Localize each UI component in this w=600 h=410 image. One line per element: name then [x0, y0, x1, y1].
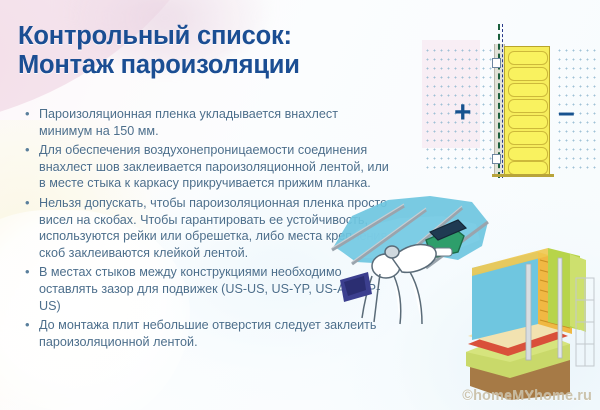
bullet-dot-icon: •	[22, 317, 39, 334]
page-title: Контрольный список: Монтаж пароизоляции	[18, 22, 448, 80]
layered-wall-3d-illustration	[452, 248, 600, 403]
wall-cross-section-diagram: + –	[418, 6, 600, 192]
title-line-2: Монтаж пароизоляции	[18, 51, 448, 80]
diagram-membrane-line	[502, 24, 503, 178]
bullet-dot-icon: •	[22, 106, 39, 123]
diagram-insulation-layer	[504, 46, 550, 176]
slide-canvas: Контрольный список: Монтаж пароизоляции …	[0, 0, 600, 410]
bullet-dot-icon: •	[22, 195, 39, 212]
diagram-base-line	[492, 174, 554, 177]
bullet-dot-icon: •	[22, 264, 39, 281]
title-line-1: Контрольный список:	[18, 22, 448, 51]
watermark: ©homeMYhome.ru	[462, 388, 592, 404]
list-item: • Для обеспечения воздухонепроницаемости…	[22, 142, 390, 192]
list-item-text: Пароизоляционная пленка укладывается вна…	[39, 106, 390, 139]
film-corner-tag	[340, 272, 372, 302]
list-item-text: Для обеспечения воздухонепроницаемости с…	[39, 142, 390, 192]
list-item: • Пароизоляционная пленка укладывается в…	[22, 106, 390, 139]
minus-sign-icon: –	[558, 98, 575, 128]
plus-sign-icon: +	[454, 98, 472, 128]
diagram-fastener-tick	[492, 154, 501, 164]
diagram-fastener-tick	[492, 58, 501, 68]
bullet-dot-icon: •	[22, 142, 39, 159]
